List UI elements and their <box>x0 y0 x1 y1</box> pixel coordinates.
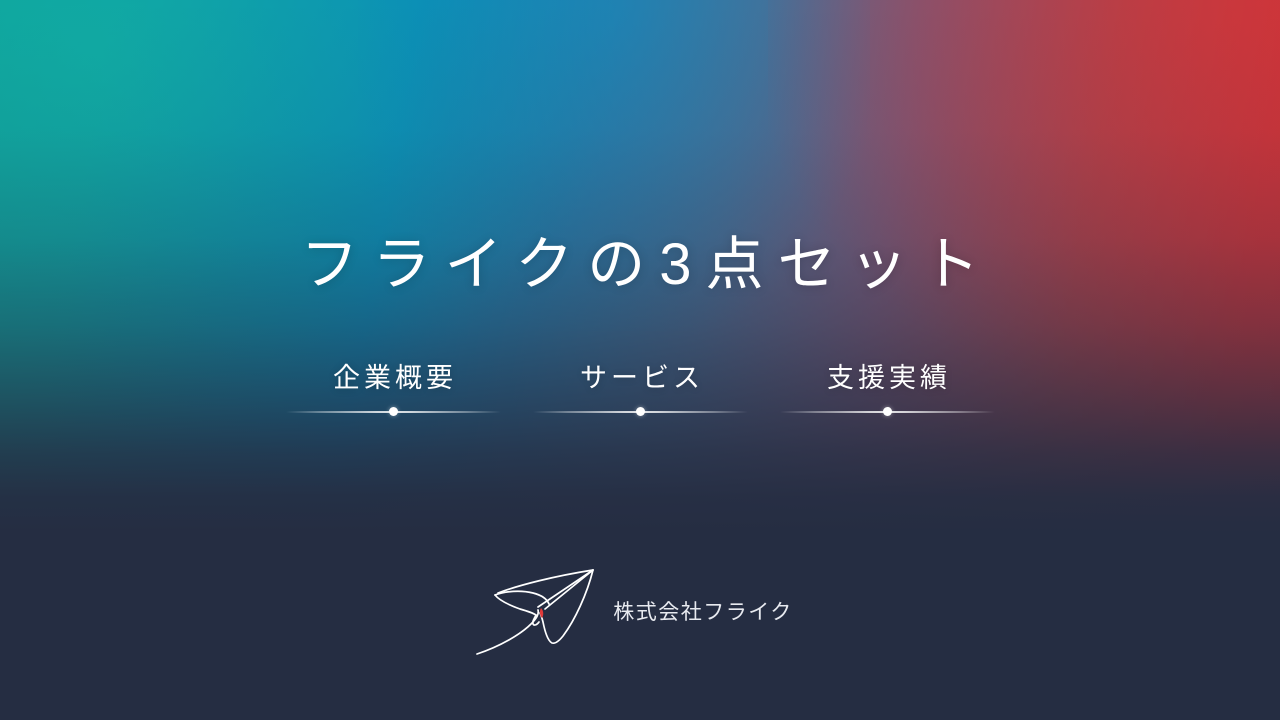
brand-logo: 株式会社フライク <box>0 560 1280 658</box>
agenda-item-label: サービス <box>576 362 704 396</box>
slide-title: フライクの3点セット <box>0 232 1280 299</box>
agenda-item-label: 企業概要 <box>329 362 457 396</box>
agenda-item-label: 支援実績 <box>823 362 951 396</box>
agenda-item-company-overview[interactable]: 企業概要 <box>286 362 501 413</box>
agenda-item-rule <box>780 411 995 413</box>
agenda-item-dot <box>389 407 398 416</box>
agenda-item-service[interactable]: サービス <box>533 362 748 413</box>
paper-plane-icon <box>475 560 607 658</box>
slide-content: フライクの3点セット 企業概要 サービス 支援実績 <box>0 0 1280 720</box>
agenda-item-dot <box>883 407 892 416</box>
brand-name-label: 株式会社フライク <box>613 596 793 626</box>
presentation-slide: フライクの3点セット 企業概要 サービス 支援実績 <box>0 0 1280 720</box>
agenda-item-rule <box>533 411 748 413</box>
agenda-item-track-record[interactable]: 支援実績 <box>780 362 995 413</box>
agenda-item-rule <box>286 411 501 413</box>
agenda-list: 企業概要 サービス 支援実績 <box>0 362 1280 413</box>
agenda-item-dot <box>636 407 645 416</box>
